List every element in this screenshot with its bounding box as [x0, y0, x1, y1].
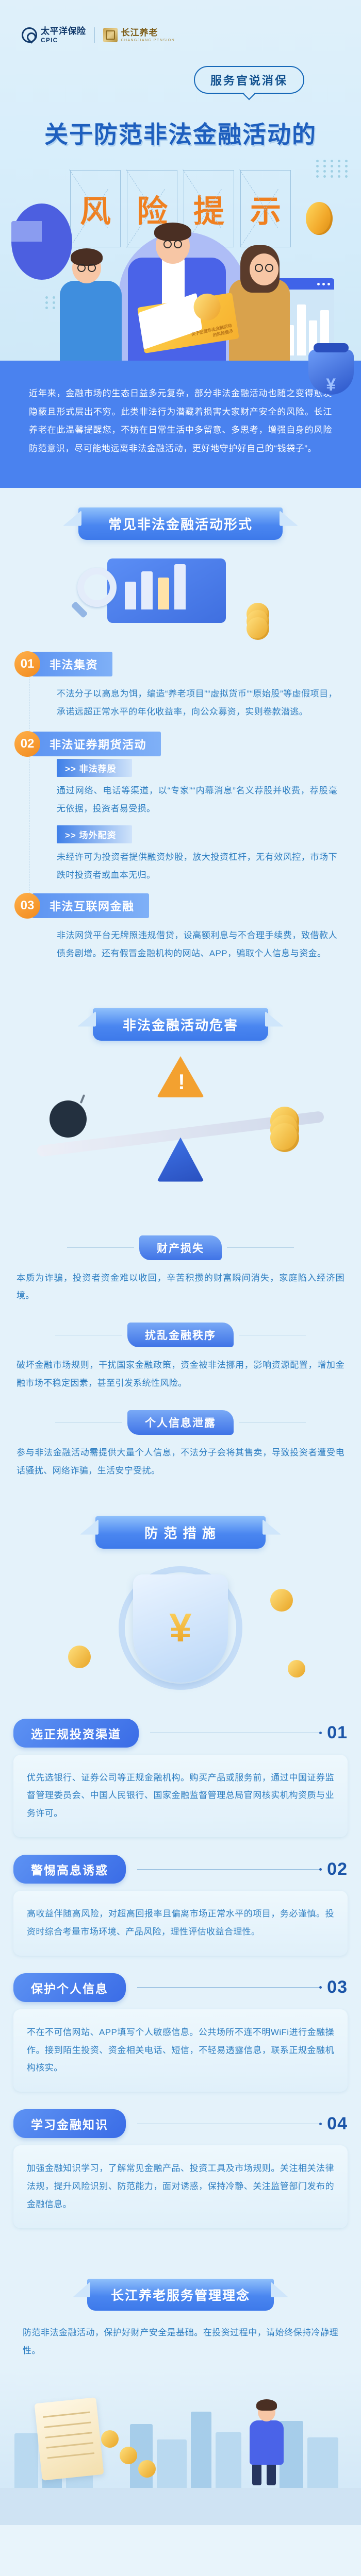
shield-illustration [0, 1559, 361, 1714]
money-bag-icon [308, 349, 354, 395]
magnifier-chart-illustration [0, 553, 361, 651]
section-heading-harms: 非法金融活动危害 [93, 1008, 268, 1041]
section-measures: 防 范 措 施 选正规投资渠道 01 优先选银行、证券公司等正规金融机构。购买产… [0, 1497, 361, 2274]
brand-logo-bar: 太平洋保险 CPIC 长江养老 CHANGJIANG PENSION [22, 27, 175, 43]
sub-item-label: >> 非法荐股 [57, 759, 132, 777]
measure-body: 高收益伴随高风险，对超高回报率且偏离市场正常水平的项目，务必谨慎。投资时综合考量… [13, 1891, 348, 1956]
section-heading-ribbon: 防 范 措 施 [0, 1497, 361, 1559]
seesaw-illustration: ! [0, 1051, 361, 1221]
measure-connector [137, 1987, 321, 1988]
list-item: 选正规投资渠道 01 优先选银行、证券公司等正规金融机构。购买产品或服务前，通过… [13, 1719, 348, 1838]
warning-triangle-icon: ! [157, 1056, 204, 1097]
cpic-emblem-icon [22, 27, 37, 43]
item-body: 非法网贷平台无牌照违规借贷，设高额利息与不合理手续费，致借款人债务剧增。还有假冒… [38, 919, 347, 970]
measure-number: 03 [327, 1977, 348, 1997]
section-heading-forms: 常见非法金融活动形式 [78, 507, 283, 540]
footer-heading-ribbon: 长江养老服务管理理念 [0, 2274, 361, 2311]
logo-divider [94, 27, 95, 43]
bomb-icon [50, 1100, 87, 1138]
harm-body: 本质为诈骗，投资者资金难以收回，辛苦积攒的财富瞬间消失，家庭陷入经济困境。 [14, 1262, 347, 1309]
harms-list: 财产损失 本质为诈骗，投资者资金难以收回，辛苦积攒的财富瞬间消失，家庭陷入经济困… [0, 1235, 361, 1486]
list-item: 保护个人信息 03 不在不可信网站、APP填写个人敏感信息。公共场所不连不明Wi… [13, 1973, 348, 2092]
coin-stack-icon [270, 1107, 299, 1152]
changjiang-emblem-icon [103, 28, 118, 42]
harm-body: 参与非法金融活动需提供大量个人信息，不法分子会将其售卖，导致投资者遭受电话骚扰、… [14, 1437, 347, 1483]
list-item: 学习金融知识 04 加强金融知识学习，了解常见金融产品、投资工具及市场规则。关注… [13, 2109, 348, 2228]
harm-title: 个人信息泄露 [127, 1410, 234, 1435]
page-title: 关于防范非法金融活动的 [0, 116, 361, 150]
coin-icon [270, 1589, 293, 1612]
ground-road [0, 2488, 361, 2525]
list-item: 财产损失 本质为诈骗，投资者资金难以收回，辛苦积攒的财富瞬间消失，家庭陷入经济困… [14, 1235, 347, 1309]
measure-title: 保护个人信息 [13, 1973, 126, 2002]
shield-icon [133, 1574, 228, 1683]
dot-grid-decoration [316, 160, 350, 178]
list-item: 02 非法证券期货活动 >> 非法荐股 通过网络、电话等渠道，以“专家”“内幕消… [14, 731, 347, 892]
document-scroll-icon [34, 2397, 104, 2481]
coin-icon [120, 2447, 137, 2464]
cpic-name-en: CPIC [41, 37, 86, 43]
list-item: 01 非法集资 不法分子以高息为饵，编造“养老项目”“虚拟货币”“原始股”等虚假… [14, 651, 347, 732]
list-item: 警惕高息诱惑 02 高收益伴随高风险，对超高回报率且偏离市场正常水平的项目，务必… [13, 1855, 348, 1956]
seesaw-fulcrum [157, 1138, 204, 1182]
list-item: 个人信息泄露 参与非法金融活动需提供大量个人信息，不法分子会将其售卖，导致投资者… [14, 1410, 347, 1483]
changjiang-name-en: CHANGJIANG PENSION [121, 39, 175, 42]
hero-banner: 太平洋保险 CPIC 长江养老 CHANGJIANG PENSION 服务官说消… [0, 0, 361, 361]
item-number: 03 [14, 893, 40, 919]
section-footer: 长江养老服务管理理念 防范非法金融活动，保护好财产安全是基础。在投资过程中，请始… [0, 2274, 361, 2525]
section-heading-ribbon: 常见非法金融活动形式 [0, 488, 361, 550]
measure-connector [137, 1869, 321, 1870]
coin-icon [101, 2430, 119, 2448]
forms-item-list: 01 非法集资 不法分子以高息为饵，编造“养老项目”“虚拟货币”“原始股”等虚假… [0, 651, 361, 978]
section-heading-measures: 防 范 措 施 [95, 1516, 266, 1549]
people-illustration: 关于防范非法金融活动 的风险提示 [0, 191, 361, 361]
coin-icon [138, 2460, 156, 2478]
measure-title: 选正规投资渠道 [13, 1719, 139, 1748]
measure-title: 警惕高息诱惑 [13, 1855, 126, 1884]
harm-body: 破坏金融市场规则，干扰国家金融政策，资金被非法挪用，影响资源配置，增加金融市场不… [14, 1349, 347, 1396]
measure-body: 不在不可信网站、APP填写个人敏感信息。公共场所不连不明WiFi进行金融操作。接… [13, 2009, 348, 2092]
coin-icon [288, 1660, 305, 1677]
harm-title: 扰乱金融秩序 [127, 1323, 234, 1347]
city-illustration [0, 2365, 361, 2525]
intro-block: 近年来，金融市场的生态日益多元复杂，部分非法金融活动也随之变得愈发隐蔽且形式层出… [0, 361, 361, 488]
measure-number: 01 [327, 1723, 348, 1743]
footer-text: 防范非法金融活动，保护好财产安全是基础。在投资过程中，请始终保持冷静理性。 [0, 2311, 361, 2365]
warning-exclamation: ! [178, 1070, 185, 1094]
measure-title: 学习金融知识 [13, 2109, 126, 2138]
coin-stack-icon [247, 603, 269, 640]
coin-icon [68, 1646, 91, 1668]
measure-body: 优先选银行、证券公司等正规金融机构。购买产品或服务前，通过中国证券监督管理委员会… [13, 1755, 348, 1838]
measure-body: 加强金融知识学习，了解常见金融产品、投资工具及市场规则。关注相关法律法规，提升风… [13, 2145, 348, 2228]
sub-item-body: 未经许可为投资者提供融资炒股，放大投资杠杆，无有效风控，市场下跌时投资者或血本无… [38, 844, 347, 890]
item-number: 01 [14, 651, 40, 677]
sub-item-label: >> 场外配资 [57, 825, 132, 843]
changjiang-logo: 长江养老 CHANGJIANG PENSION [103, 28, 175, 42]
list-item: 03 非法互联网金融 非法网贷平台无牌照违规借贷，设高额利息与不合理手续费，致借… [14, 893, 347, 973]
sub-item-body: 通过网络、电话等渠道，以“专家”“内幕消息”名义荐股并收费，荐股毫无依据，投资者… [38, 778, 347, 823]
cpic-logo: 太平洋保险 CPIC [22, 27, 86, 43]
infographic-page: 太平洋保险 CPIC 长江养老 CHANGJIANG PENSION 服务官说消… [0, 0, 361, 2525]
item-title: 非法互联网金融 [32, 893, 149, 918]
measure-number: 04 [327, 2114, 348, 2134]
measure-number: 02 [327, 1859, 348, 1879]
section-harms: 非法金融活动危害 ! 财产损失 本质为诈骗，投资者资金难以收回，辛苦积攒的财富瞬… [0, 989, 361, 1497]
section-heading-ribbon: 非法金融活动危害 [0, 989, 361, 1051]
item-title: 非法集资 [32, 652, 112, 676]
service-badge: 服务官说消保 [194, 66, 304, 94]
list-item: 扰乱金融秩序 破坏金融市场规则，干扰国家金融政策，资金被非法挪用，影响资源配置，… [14, 1323, 347, 1396]
person-walking [250, 2403, 284, 2488]
changjiang-name-cn: 长江养老 [121, 28, 175, 37]
footer-heading: 长江养老服务管理理念 [87, 2279, 274, 2311]
magnifier-icon [77, 568, 117, 607]
item-body: 不法分子以高息为饵，编造“养老项目”“虚拟货币”“原始股”等虚假项目，承诺远超正… [38, 677, 347, 728]
measure-connector [150, 1733, 321, 1733]
measure-connector [137, 2124, 321, 2124]
intro-paragraph: 近年来，金融市场的生态日益多元复杂，部分非法金融活动也随之变得愈发隐蔽且形式层出… [29, 384, 332, 458]
measures-list: 选正规投资渠道 01 优先选银行、证券公司等正规金融机构。购买产品或服务前，通过… [0, 1714, 361, 2263]
section-common-forms: 常见非法金融活动形式 01 非法集资 不法分子以高息为饵，编造“养老项目”“虚拟… [0, 488, 361, 989]
cpic-name-cn: 太平洋保险 [41, 27, 86, 36]
harm-title: 财产损失 [139, 1235, 222, 1260]
item-title: 非法证券期货活动 [32, 732, 161, 756]
